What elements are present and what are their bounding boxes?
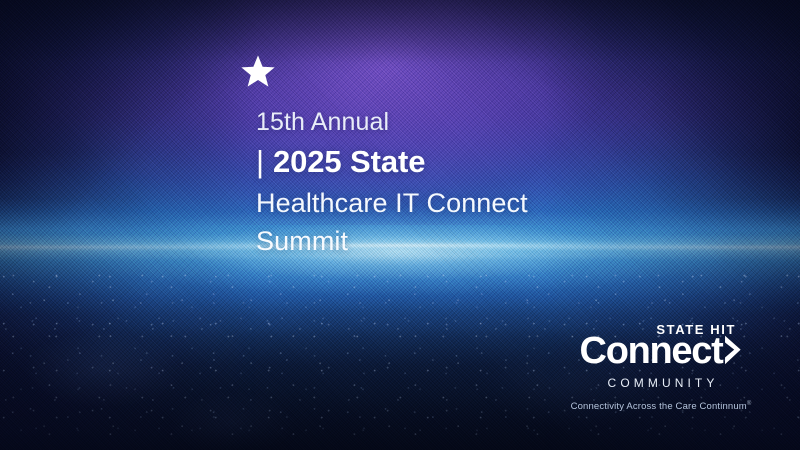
headline-year-title: |2025 State (256, 142, 716, 182)
headline-vertical-bar: | (256, 142, 264, 182)
logo-wordmark-connect: Connect (580, 332, 723, 370)
brand-logo-lockup: STATE HIT Connect COMMUNITY Connectivity… (552, 323, 770, 412)
headline-year-text: 2025 State (273, 144, 425, 179)
chevron-right-icon (723, 335, 742, 365)
star-icon (241, 54, 275, 88)
headline-line-three: Healthcare IT Connect (256, 186, 716, 221)
logo-tagline: Connectivity Across the Care Continnum® (552, 401, 770, 412)
logo-wordmark-row: Connect (552, 332, 770, 370)
headline-annual: 15th Annual (256, 106, 716, 139)
headline-block: 15th Annual |2025 State Healthcare IT Co… (256, 106, 716, 259)
headline-line-four: Summit (256, 224, 716, 259)
logo-tagline-text: Connectivity Across the Care Continnum (571, 401, 747, 412)
slide-content: 15th Annual |2025 State Healthcare IT Co… (0, 0, 800, 450)
logo-registered-mark: ® (747, 401, 752, 407)
event-promo-slide: 15th Annual |2025 State Healthcare IT Co… (0, 0, 800, 450)
logo-community-label: COMMUNITY (552, 376, 770, 390)
